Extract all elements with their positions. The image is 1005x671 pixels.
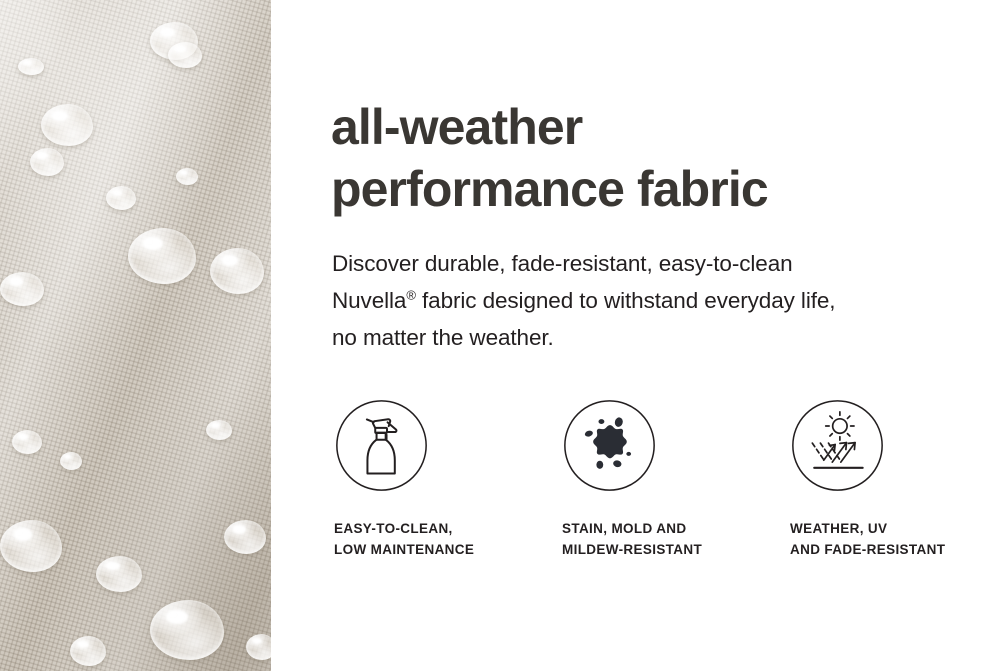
subcopy-line-3: no matter the weather. [332,325,554,350]
water-bead [246,634,271,660]
water-bead [0,272,44,306]
sun-uv-reflect-icon [790,398,885,493]
water-bead [150,600,224,660]
water-bead [18,58,44,75]
water-bead [70,636,106,666]
copy-pane: all-weather performance fabric Discover … [271,0,1005,671]
water-bead [30,148,64,176]
feature-caption: STAIN, MOLD AND MILDEW-RESISTANT [562,518,792,560]
feature-item: WEATHER, UV AND FADE-RESISTANT [790,398,1005,560]
feature-item: STAIN, MOLD AND MILDEW-RESISTANT [562,398,792,560]
water-bead [0,520,62,572]
fabric-photo [0,0,271,671]
water-bead [41,104,93,146]
feature-list: EASY-TO-CLEAN, LOW MAINTENANCE [271,398,1005,578]
registered-trademark-symbol: ® [406,288,416,303]
water-bead [12,430,42,454]
water-bead [128,228,196,284]
water-bead [206,420,232,440]
all-weather-fabric-promo-banner: all-weather performance fabric Discover … [0,0,1005,671]
water-bead [176,168,198,185]
water-bead [96,556,142,592]
spray-bottle-icon [334,398,429,493]
water-bead [168,42,202,68]
brand-name: Nuvella [332,288,406,313]
page-title: all-weather performance fabric [331,96,991,220]
feature-caption: EASY-TO-CLEAN, LOW MAINTENANCE [334,518,564,560]
water-bead [106,186,136,210]
water-bead [210,248,264,294]
subcopy-line-2: fabric designed to withstand everyday li… [416,288,836,313]
subcopy-paragraph: Discover durable, fade-resistant, easy-t… [332,245,972,356]
feature-item: EASY-TO-CLEAN, LOW MAINTENANCE [334,398,564,560]
water-bead [224,520,266,554]
water-bead [60,452,82,470]
stain-splat-icon [562,398,657,493]
subcopy-line-1: Discover durable, fade-resistant, easy-t… [332,251,793,276]
feature-caption: WEATHER, UV AND FADE-RESISTANT [790,518,1005,560]
